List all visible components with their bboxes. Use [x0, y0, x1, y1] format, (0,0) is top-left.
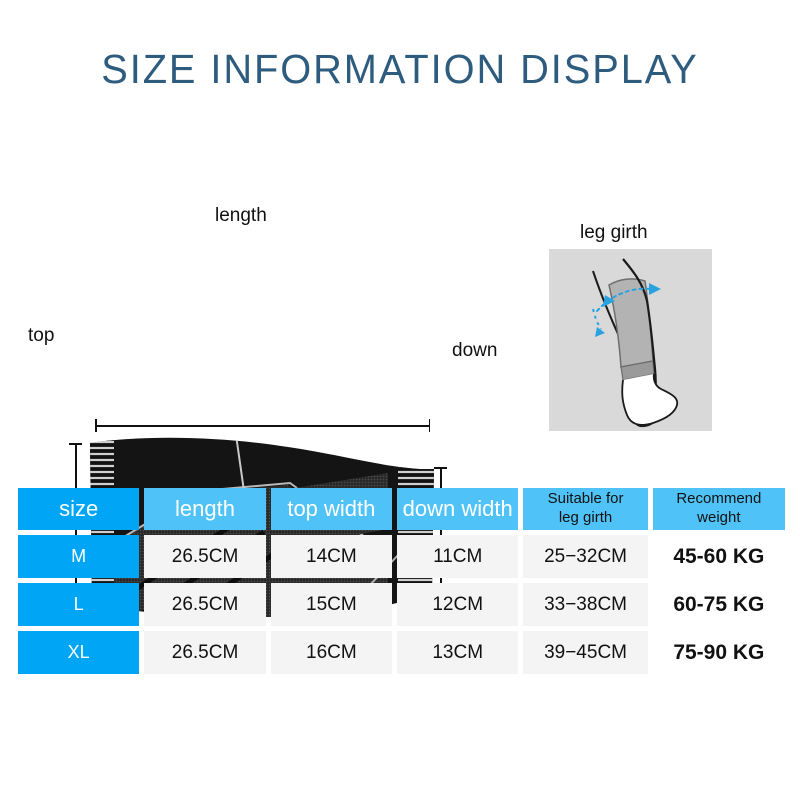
header-down-width: down width [397, 488, 518, 530]
leg-girth-panel [549, 249, 712, 431]
cell-size: XL [18, 631, 139, 674]
header-leg-girth-line2: leg girth [548, 509, 624, 528]
header-length: length [144, 488, 265, 530]
cell-top-width: 15CM [271, 583, 392, 626]
cell-weight: 45-60 KG [653, 535, 785, 578]
cell-weight: 60-75 KG [653, 583, 785, 626]
table-row: M 26.5CM 14CM 11CM 25−32CM 45-60 KG [18, 535, 785, 578]
label-top: top [28, 325, 54, 347]
label-length: length [215, 205, 267, 227]
length-measurement-line [95, 425, 430, 427]
page-title: SIZE INFORMATION DISPLAY [12, 46, 788, 93]
down-cap-top [434, 467, 447, 469]
table-header-row: size length top width down width Suitabl… [18, 488, 785, 530]
cell-down-width: 12CM [397, 583, 518, 626]
header-weight-line2: weight [676, 509, 761, 528]
cell-size: L [18, 583, 139, 626]
cell-weight: 75-90 KG [653, 631, 785, 674]
table-row: XL 26.5CM 16CM 13CM 39−45CM 75-90 KG [18, 631, 785, 674]
header-leg-girth: Suitable for leg girth [523, 488, 647, 530]
cell-length: 26.5CM [144, 631, 265, 674]
size-table: size length top width down width Suitabl… [18, 488, 785, 679]
top-cap-top [69, 443, 82, 445]
header-recommend-weight: Recommend weight [653, 488, 785, 530]
table-row: L 26.5CM 15CM 12CM 33−38CM 60-75 KG [18, 583, 785, 626]
cell-top-width: 16CM [271, 631, 392, 674]
header-size: size [18, 488, 139, 530]
label-leg-girth: leg girth [580, 222, 648, 244]
header-top-width: top width [271, 488, 392, 530]
cell-leg-girth: 33−38CM [523, 583, 647, 626]
cell-size: M [18, 535, 139, 578]
cell-top-width: 14CM [271, 535, 392, 578]
header-leg-girth-line1: Suitable for [548, 490, 624, 509]
cell-down-width: 11CM [397, 535, 518, 578]
cell-length: 26.5CM [144, 583, 265, 626]
cell-length: 26.5CM [144, 535, 265, 578]
leg-girth-illustration [549, 249, 712, 431]
cell-leg-girth: 39−45CM [523, 631, 647, 674]
label-down: down [452, 340, 497, 362]
size-information-page: SIZE INFORMATION DISPLAY [0, 0, 800, 800]
header-weight-line1: Recommend [676, 490, 761, 509]
length-cap-right [429, 419, 431, 432]
product-diagram [0, 185, 540, 465]
length-cap-left [95, 419, 97, 432]
cell-leg-girth: 25−32CM [523, 535, 647, 578]
cell-down-width: 13CM [397, 631, 518, 674]
